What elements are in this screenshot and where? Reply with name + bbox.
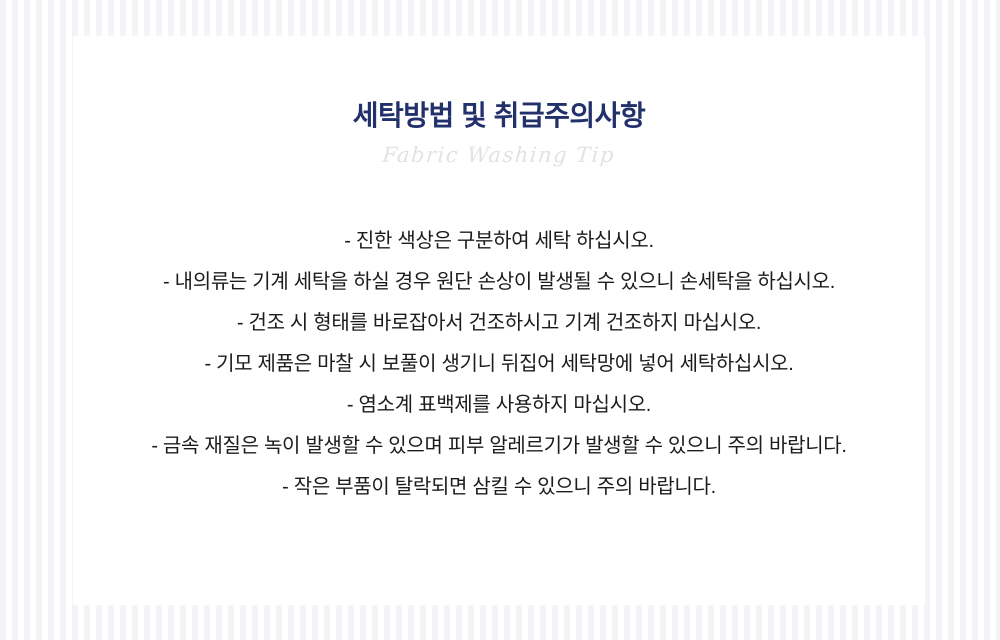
washing-note-item: - 염소계 표백제를 사용하지 마십시오. xyxy=(73,385,925,426)
heading-block: 세탁방법 및 취급주의사항 Fabric Washing Tip xyxy=(73,36,925,168)
page-background: 세탁방법 및 취급주의사항 Fabric Washing Tip - 진한 색상… xyxy=(0,0,1000,640)
washing-note-item: - 금속 재질은 녹이 발생할 수 있으며 피부 알레르기가 발생할 수 있으니… xyxy=(73,426,925,467)
washing-note-item: - 건조 시 형태를 바로잡아서 건조하시고 기계 건조하지 마십시오. xyxy=(73,303,925,344)
washing-note-item: - 내의류는 기계 세탁을 하실 경우 원단 손상이 발생될 수 있으니 손세탁… xyxy=(73,262,925,303)
washing-note-item: - 작은 부품이 탈락되면 삼킬 수 있으니 주의 바랍니다. xyxy=(73,467,925,508)
page-subtitle: Fabric Washing Tip xyxy=(72,133,926,168)
washing-note-item: - 진한 색상은 구분하여 세탁 하십시오. xyxy=(73,221,925,262)
content-card: 세탁방법 및 취급주의사항 Fabric Washing Tip - 진한 색상… xyxy=(73,36,925,605)
washing-notes-list: - 진한 색상은 구분하여 세탁 하십시오.- 내의류는 기계 세탁을 하실 경… xyxy=(73,221,925,508)
page-title: 세탁방법 및 취급주의사항 xyxy=(73,36,925,133)
washing-note-item: - 기모 제품은 마찰 시 보풀이 생기니 뒤집어 세탁망에 넣어 세탁하십시오… xyxy=(73,344,925,385)
